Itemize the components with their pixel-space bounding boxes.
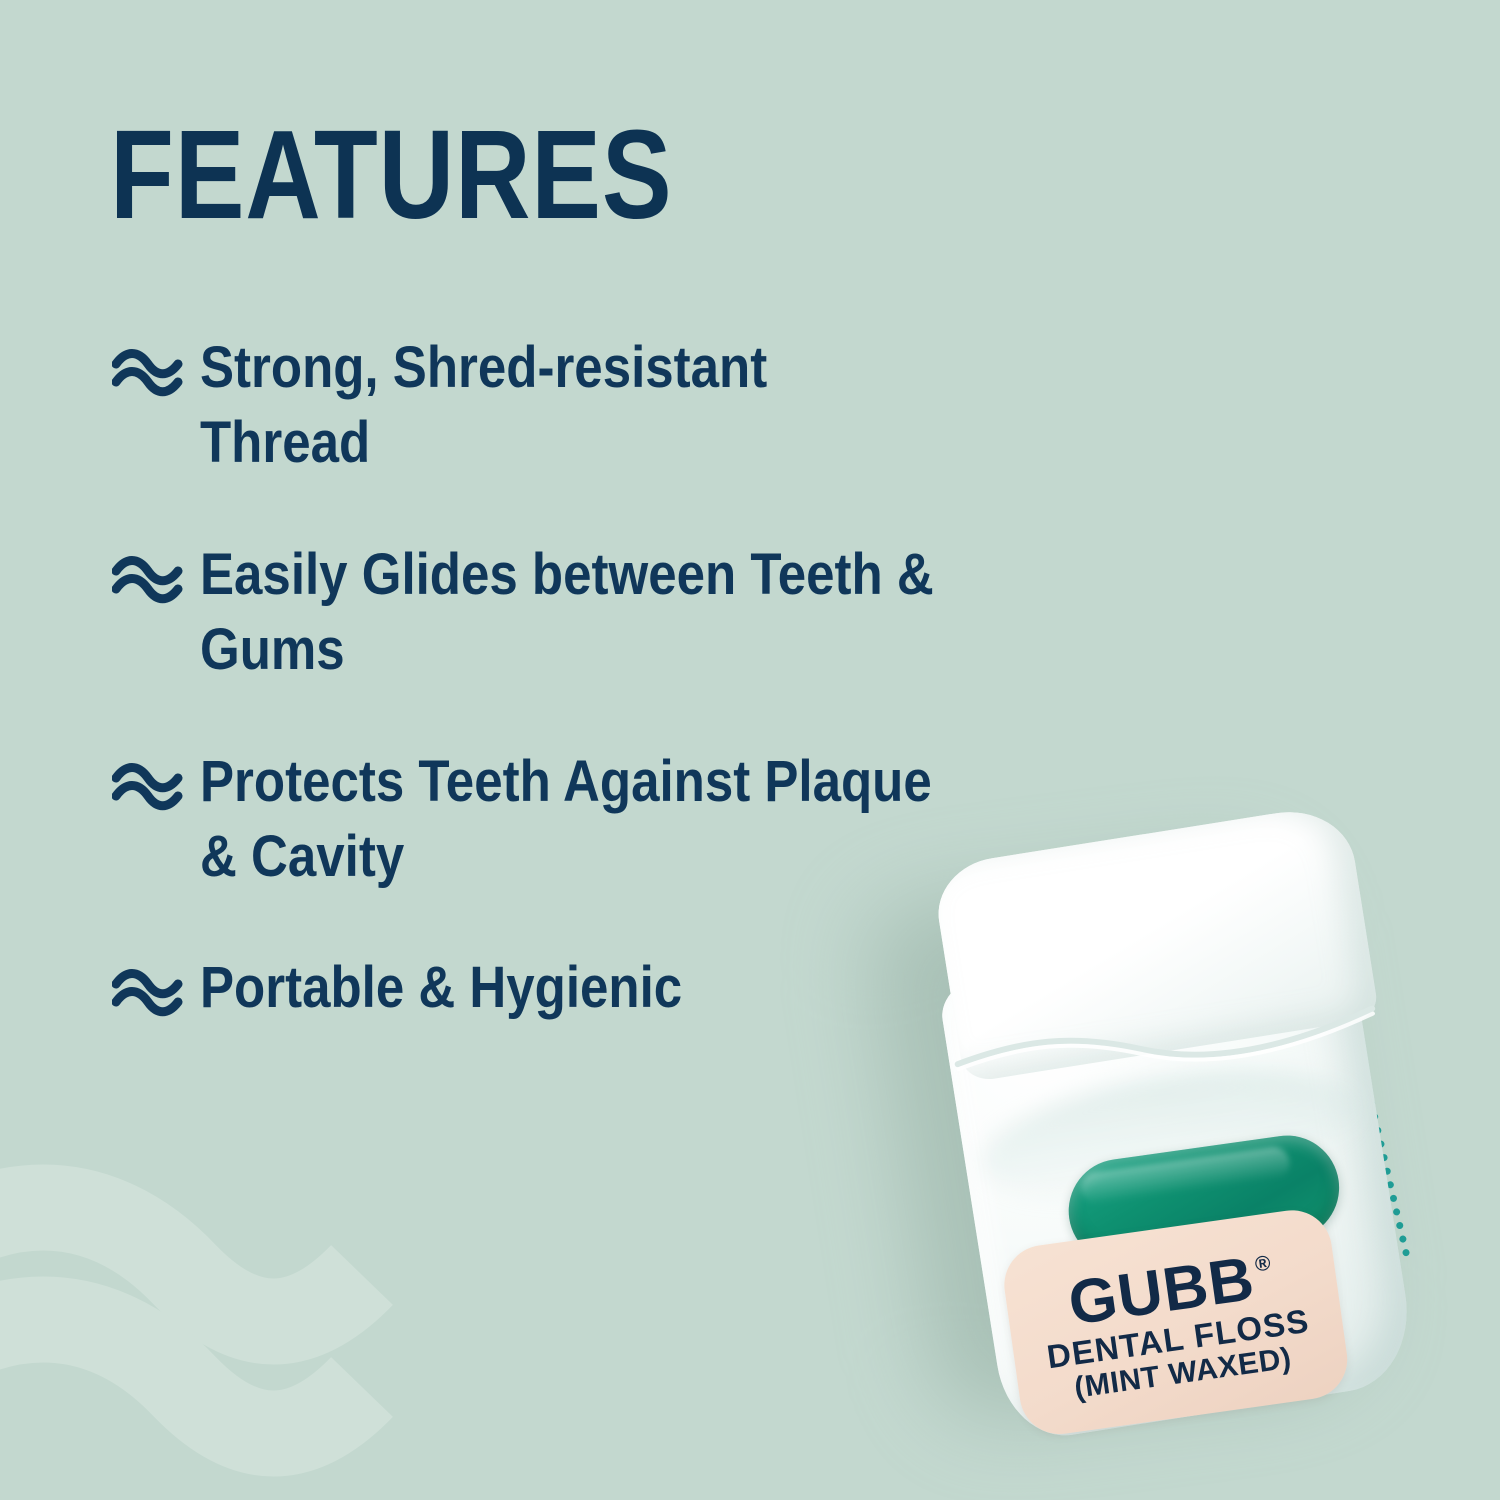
- page-title: FEATURES: [110, 112, 672, 238]
- double-wave-icon: [112, 553, 184, 607]
- dental-floss-container: GUBB ® DENTAL FLOSS (MINT WAXED): [894, 794, 1442, 1459]
- double-wave-icon: [112, 966, 184, 1020]
- registered-trademark-icon: ®: [1254, 1253, 1273, 1275]
- list-item: Easily Glides between Teeth & Gums: [112, 537, 1042, 688]
- feature-poster: FEATURES Strong, Shred-resistant Thread …: [0, 0, 1500, 1500]
- list-item-label: Easily Glides between Teeth & Gums: [200, 537, 941, 688]
- double-wave-watermark-icon: [0, 1155, 570, 1485]
- list-item-label: Portable & Hygienic: [200, 950, 941, 1025]
- double-wave-icon: [112, 346, 184, 400]
- list-item-label: Strong, Shred-resistant Thread: [200, 330, 941, 481]
- product-image: GUBB ® DENTAL FLOSS (MINT WAXED): [860, 790, 1500, 1500]
- list-item: Strong, Shred-resistant Thread: [112, 330, 1042, 481]
- double-wave-icon: [112, 760, 184, 814]
- list-item-label: Protects Teeth Against Plaque & Cavity: [200, 744, 941, 895]
